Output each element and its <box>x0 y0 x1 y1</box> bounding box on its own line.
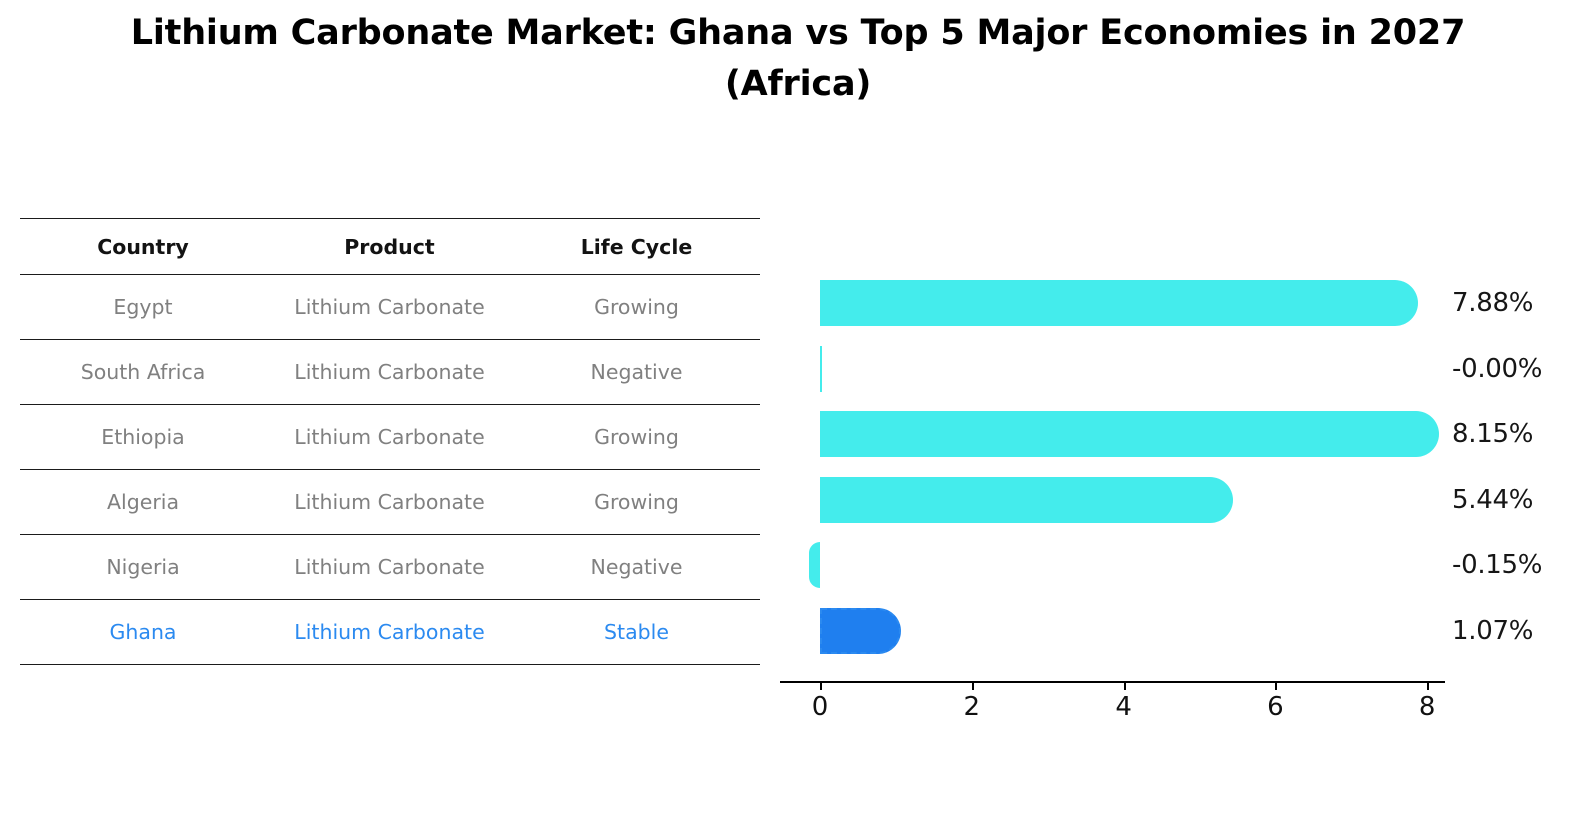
cell-product: Lithium Carbonate <box>266 535 513 600</box>
cell-country: Ethiopia <box>20 405 266 470</box>
title-line-sub: (Africa) <box>0 61 1596 108</box>
cell-life-cycle: Growing <box>513 275 760 340</box>
cell-life-cycle: Growing <box>513 405 760 470</box>
bar-row <box>780 336 1445 402</box>
bar-row <box>780 598 1445 664</box>
cell-product: Lithium Carbonate <box>266 600 513 665</box>
cell-country: Nigeria <box>20 535 266 600</box>
table-header-row: Country Product Life Cycle <box>20 219 760 275</box>
bar-value-label: 8.15% <box>1452 419 1533 449</box>
bar-value-label: 5.44% <box>1452 485 1533 515</box>
bar-ghana[interactable] <box>820 608 901 654</box>
x-axis-line <box>780 681 1445 683</box>
table-row[interactable]: AlgeriaLithium CarbonateGrowing <box>20 470 760 535</box>
x-axis-tick-label: 2 <box>942 692 1002 722</box>
x-axis-tick <box>1124 681 1126 690</box>
bar-nigeria[interactable] <box>809 542 820 588</box>
column-header-life-cycle: Life Cycle <box>513 219 760 275</box>
bar-value-label: -0.00% <box>1452 354 1542 384</box>
title-line-main: Lithium Carbonate Market: Ghana vs Top 5… <box>0 10 1596 57</box>
cell-product: Lithium Carbonate <box>266 340 513 405</box>
cell-life-cycle: Growing <box>513 470 760 535</box>
x-axis-tick <box>972 681 974 690</box>
bar-row <box>780 467 1445 533</box>
country-info-table: Country Product Life Cycle EgyptLithium … <box>20 218 760 665</box>
x-axis-tick-label: 6 <box>1245 692 1305 722</box>
cell-country: Ghana <box>20 600 266 665</box>
column-header-product: Product <box>266 219 513 275</box>
bar-south-africa[interactable] <box>820 346 822 392</box>
bar-value-label: 7.88% <box>1452 288 1533 318</box>
plot-area <box>780 270 1445 682</box>
bar-value-label: -0.15% <box>1452 550 1542 580</box>
cell-life-cycle: Negative <box>513 340 760 405</box>
x-axis-tick <box>1427 681 1429 690</box>
x-axis-tick <box>820 681 822 690</box>
table-row[interactable]: NigeriaLithium CarbonateNegative <box>20 535 760 600</box>
page-title: Lithium Carbonate Market: Ghana vs Top 5… <box>0 10 1596 109</box>
cell-life-cycle: Stable <box>513 600 760 665</box>
cell-product: Lithium Carbonate <box>266 405 513 470</box>
bar-ethiopia[interactable] <box>820 411 1439 457</box>
country-info-table-panel: Country Product Life Cycle EgyptLithium … <box>20 218 760 665</box>
bar-algeria[interactable] <box>820 477 1233 523</box>
x-axis-tick-label: 0 <box>790 692 850 722</box>
bar-row <box>780 270 1445 336</box>
bar-value-label: 1.07% <box>1452 616 1533 646</box>
table-row[interactable]: GhanaLithium CarbonateStable <box>20 600 760 665</box>
x-axis-tick-label: 4 <box>1094 692 1154 722</box>
cell-country: South Africa <box>20 340 266 405</box>
table-row[interactable]: South AfricaLithium CarbonateNegative <box>20 340 760 405</box>
cell-product: Lithium Carbonate <box>266 470 513 535</box>
cell-product: Lithium Carbonate <box>266 275 513 340</box>
column-header-country: Country <box>20 219 266 275</box>
cell-country: Algeria <box>20 470 266 535</box>
table-row[interactable]: EthiopiaLithium CarbonateGrowing <box>20 405 760 470</box>
x-axis-tick <box>1275 681 1277 690</box>
bar-row <box>780 532 1445 598</box>
bar-egypt[interactable] <box>820 280 1418 326</box>
table-body: EgyptLithium CarbonateGrowingSouth Afric… <box>20 275 760 665</box>
x-axis-tick-label: 8 <box>1397 692 1457 722</box>
cell-country: Egypt <box>20 275 266 340</box>
cell-life-cycle: Negative <box>513 535 760 600</box>
table-row[interactable]: EgyptLithium CarbonateGrowing <box>20 275 760 340</box>
bar-row <box>780 401 1445 467</box>
